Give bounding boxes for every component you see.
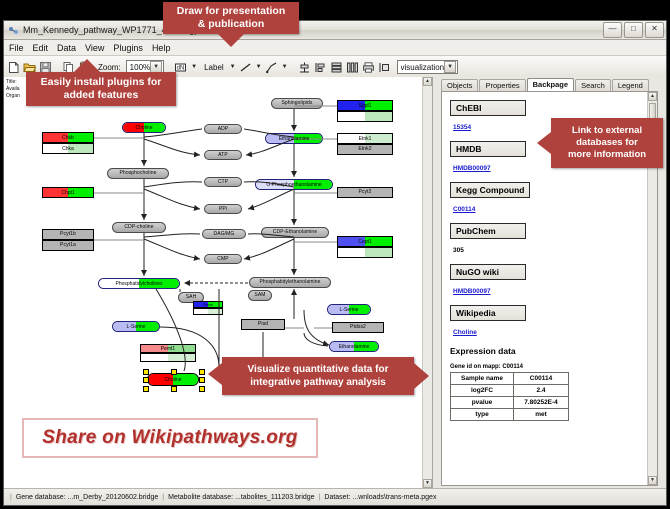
callout-plugins-line1: Easily install plugins for — [41, 76, 162, 88]
metabolite-node-phosphatidylethanolamine[interactable]: Phosphatidylethanolamine — [249, 277, 331, 288]
menu-bar: File Edit Data View Plugins Help — [4, 40, 666, 56]
menu-data[interactable]: Data — [57, 43, 76, 53]
status-sep-0: | — [10, 494, 12, 501]
close-button[interactable]: ✕ — [645, 22, 664, 38]
row-key-log2fc: log2FC — [451, 385, 514, 397]
callout-visualize-line2: integrative pathway analysis — [250, 377, 386, 388]
metabolite-node-cdp-ethanolamine[interactable]: CDP-Ethanolamine — [261, 227, 329, 238]
line-icon[interactable] — [239, 59, 252, 75]
label-dropdown-icon[interactable]: ▼ — [230, 64, 236, 70]
tab-properties[interactable]: Properties — [479, 79, 525, 91]
status-bar: | Gene database: ...m_Derby_20120602.bri… — [4, 488, 666, 505]
gene-box-pcyt1b[interactable]: Pcyt1b — [42, 229, 94, 240]
gene-box-sgpl1-white — [337, 111, 393, 122]
tab-search[interactable]: Search — [575, 79, 611, 91]
metabolite-node-phosphocholine[interactable]: Phosphocholine — [107, 168, 169, 179]
visualization-chevron-down-icon[interactable]: ▼ — [444, 61, 456, 73]
table-row: pvalue 7.80252E-4 — [451, 397, 569, 409]
gene-id-on-mapp: Gene id on mapp: C00114 — [450, 364, 651, 370]
row-value-pvalue: 7.80252E-4 — [514, 397, 569, 409]
db-header-wikipedia: Wikipedia — [450, 305, 526, 321]
datanode-icon[interactable]: dN — [174, 59, 187, 75]
svg-text:dN: dN — [177, 65, 185, 71]
tab-objects[interactable]: Objects — [441, 79, 478, 91]
gene-box-sgpl1[interactable]: Sgpl1 — [337, 100, 393, 111]
gene-box-cept1-lower — [337, 247, 393, 258]
table-row: Sample name C00114 — [451, 373, 569, 385]
print-icon[interactable] — [362, 59, 375, 75]
backpage-scroll-down-icon[interactable]: ▼ — [648, 476, 657, 485]
gene-box-etnk1[interactable]: Etnk1 — [337, 133, 393, 144]
status-gene-database: Gene database: ...m_Derby_20120602.bridg… — [16, 494, 158, 501]
window-controls: — □ ✕ — [603, 22, 664, 38]
panel-tabs: Objects Properties Backpage Search Legen… — [433, 77, 666, 91]
callout-link-arrow-left-icon — [537, 132, 551, 154]
callout-draw-line2: & publication — [198, 18, 265, 30]
visualization-combobox[interactable]: visualization ▼ — [397, 60, 459, 74]
callout-draw: Draw for presentation & publication — [163, 2, 299, 34]
db-header-kegg: Kegg Compound — [450, 182, 530, 198]
gene-box-pisd[interactable]: Pisd — [241, 319, 285, 330]
callout-visualize-line1: Visualize quantitative data for — [248, 364, 389, 375]
tab-backpage[interactable]: Backpage — [527, 78, 574, 91]
zoom-label: Zoom: — [98, 63, 121, 72]
screenshot-root: Mm_Kennedy_pathway_WP1771_45176.gpml — □… — [0, 0, 670, 509]
interaction-icon[interactable] — [265, 59, 278, 75]
canvas-vertical-scrollbar[interactable]: ▲ ▼ — [422, 77, 432, 488]
metabolite-node-l-serine-right[interactable]: L-Serine — [327, 304, 371, 315]
pathvisio-icon — [8, 25, 19, 36]
db-link-chebi[interactable]: 15354 — [453, 124, 471, 131]
metabolite-node-atp[interactable]: ATP — [204, 150, 242, 160]
metabolite-node-ctp[interactable]: CTP — [204, 177, 242, 187]
new-file-icon[interactable] — [7, 59, 20, 75]
row-value-type: met — [514, 409, 569, 421]
scroll-up-icon[interactable]: ▲ — [423, 77, 432, 86]
distribute-icon[interactable] — [346, 59, 359, 75]
menu-edit[interactable]: Edit — [33, 43, 49, 53]
order-icon[interactable] — [378, 59, 391, 75]
stack-icon[interactable] — [330, 59, 343, 75]
pathway-info-organism: Organ — [6, 93, 20, 100]
callout-link: Link to external databases for more info… — [551, 118, 663, 168]
gene-box-pcyt1a[interactable]: Pcyt1a — [42, 240, 94, 251]
callout-link-line3: more information — [568, 149, 646, 160]
metabolite-node-cmp[interactable]: CMP — [204, 254, 242, 264]
selection-handles[interactable] — [143, 369, 203, 390]
menu-file[interactable]: File — [9, 43, 24, 53]
row-key-pvalue: pvalue — [451, 397, 514, 409]
title-bar: Mm_Kennedy_pathway_WP1771_45176.gpml — □… — [4, 21, 666, 40]
visualization-value: visualization — [401, 63, 445, 72]
metabolite-node-phosphatidylcholines[interactable]: Phosphatidylcholines — [98, 278, 180, 289]
metabolite-node-sam[interactable]: SAM — [248, 290, 272, 301]
tab-legend[interactable]: Legend — [612, 79, 649, 91]
metabolite-node-dagmg[interactable]: DAG/MG — [202, 229, 246, 239]
db-header-nugo: NuGO wiki — [450, 264, 526, 280]
metabolite-node-ethanolamine-right[interactable]: Ethanolamine — [329, 341, 379, 352]
pathway-info-text: Title: Availa Organ — [6, 79, 20, 100]
gene-box-chkb[interactable]: Chkb — [42, 132, 94, 143]
db-value-pubchem: 305 — [453, 247, 464, 254]
metabolite-node-choline-top[interactable]: Choline — [122, 122, 166, 133]
metabolite-node-adp[interactable]: ADP — [204, 124, 242, 134]
row-key-type: type — [451, 409, 514, 421]
gene-box-etnk2[interactable]: Etnk2 — [337, 144, 393, 155]
menu-plugins[interactable]: Plugins — [113, 43, 143, 53]
metabolite-node-sphingolipids[interactable]: Sphingolipids — [271, 98, 323, 109]
table-row: log2FC 2.4 — [451, 385, 569, 397]
db-link-kegg[interactable]: C00114 — [453, 206, 475, 213]
gene-box-pemt1[interactable]: Pemt1 — [140, 344, 196, 353]
callout-plugins-arrow-up-icon — [74, 59, 100, 72]
align-left-icon[interactable] — [314, 59, 327, 75]
db-link-nugo[interactable]: HMDB00097 — [453, 288, 491, 295]
pathway-info-title: Title: — [6, 79, 20, 86]
callout-plugins: Easily install plugins for added feature… — [26, 72, 176, 106]
share-banner-text: Share on Wikipathways.org — [42, 427, 297, 449]
callout-link-line2: databases for — [576, 137, 638, 148]
callout-link-line1: Link to external — [572, 125, 642, 136]
gene-box-pcyt2[interactable]: Pcyt2 — [337, 187, 393, 198]
status-dataset: Dataset: ...wnloads\trans-meta.pgex — [324, 494, 436, 501]
callout-visualize-arrow-right-icon — [414, 363, 429, 389]
expression-data-title: Expression data — [450, 346, 651, 356]
line-dropdown-icon[interactable]: ▼ — [256, 64, 262, 70]
backpage-scroll-up-icon[interactable]: ▲ — [648, 92, 657, 101]
menu-view[interactable]: View — [85, 43, 104, 53]
callout-draw-arrow-down-icon — [218, 34, 244, 47]
share-banner: Share on Wikipathways.org — [22, 418, 318, 458]
metabolite-node-cdp-choline[interactable]: CDP-choline — [112, 222, 166, 233]
gene-box-pemt[interactable]: Pemt — [193, 301, 223, 308]
row-value-log2fc: 2.4 — [514, 385, 569, 397]
expression-data-table: Sample name C00114 log2FC 2.4 pvalue 7.8… — [450, 372, 569, 421]
status-metabolite-database: Metabolite database: ...tabolites_111203… — [168, 494, 314, 501]
pathway-info-availability: Availa — [6, 86, 20, 93]
align-icon[interactable] — [298, 59, 311, 75]
gene-box-ptdss2[interactable]: Ptdss2 — [332, 322, 384, 333]
db-header-hmdb: HMDB — [450, 141, 526, 157]
metabolite-node-o-phosphoethanolamine[interactable]: O-Phosphoethanolamine — [255, 179, 333, 190]
gene-box-chka[interactable]: Chka — [42, 143, 94, 154]
row-key-sample-name: Sample name — [451, 373, 514, 385]
db-link-wikipedia[interactable]: Choline — [453, 329, 477, 336]
scroll-down-icon[interactable]: ▼ — [423, 479, 432, 488]
label-tool-label[interactable]: Label — [204, 63, 224, 72]
gene-box-pemt1-lower — [140, 353, 196, 362]
gene-box-pemt-lower — [193, 308, 223, 315]
callout-draw-line1: Draw for presentation — [177, 5, 286, 17]
minimize-button[interactable]: — — [603, 22, 622, 38]
menu-help[interactable]: Help — [152, 43, 171, 53]
callout-visualize-arrow-left-icon — [208, 363, 222, 385]
datanode-dropdown-icon[interactable]: ▼ — [191, 64, 197, 70]
callout-visualize: Visualize quantitative data for integrat… — [222, 357, 414, 395]
gene-box-chpt1[interactable]: Chpt1 — [42, 187, 94, 198]
row-value-sample-name: C00114 — [514, 373, 569, 385]
status-sep-2: | — [319, 494, 321, 501]
db-link-hmdb[interactable]: HMDB00097 — [453, 165, 491, 172]
metabolite-node-l-serine-left[interactable]: L-Serine — [112, 321, 160, 332]
maximize-button[interactable]: □ — [624, 22, 643, 38]
callout-plugins-line2: added features — [64, 89, 139, 101]
metabolite-node-ethanolamine[interactable]: Ethanolamine — [265, 133, 323, 144]
interaction-dropdown-icon[interactable]: ▼ — [282, 64, 288, 70]
zoom-value: 100% — [130, 63, 150, 72]
metabolite-node-ppi[interactable]: PPi — [204, 204, 242, 214]
gene-box-cept1[interactable]: Cept1 — [337, 236, 393, 247]
db-header-pubchem: PubChem — [450, 223, 526, 239]
db-header-chebi: ChEBI — [450, 100, 526, 116]
table-row: type met — [451, 409, 569, 421]
status-sep-1: | — [162, 494, 164, 501]
